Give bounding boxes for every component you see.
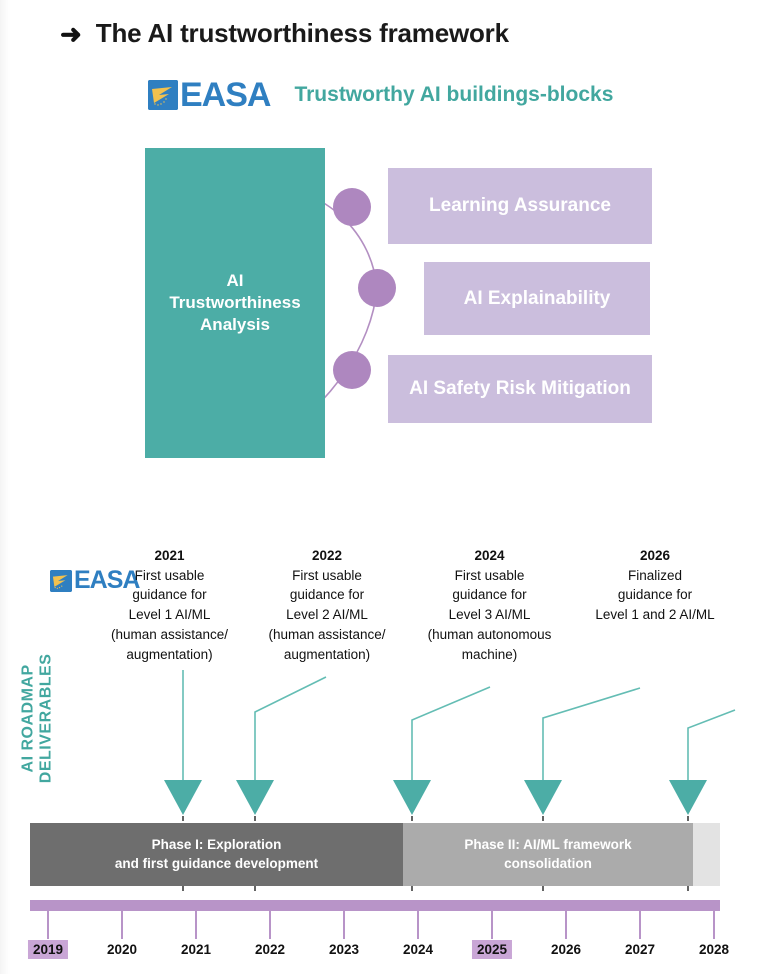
phase-band: Phase I: Exploration and first guidance … [30,823,720,886]
easa-logo-icon [148,80,178,110]
easa-logo-top: EASA [148,78,270,112]
year-label-2025: 2025 [472,940,512,959]
page-title-row: ➜ The AI trustworthiness framework [60,18,509,49]
connector-node-1 [333,188,371,226]
year-tick [269,911,271,939]
easa-wordmark: EASA [180,78,270,112]
year-tick [343,911,345,939]
core-concept-box: AI Trustworthiness Analysis [145,148,325,458]
year-label-2024: 2024 [398,940,438,959]
phase-2-bar: Phase II: AI/ML framework consolidation [403,823,693,886]
year-label-2028: 2028 [694,940,734,959]
year-label-2020: 2020 [102,940,142,959]
pillar-learning-assurance: Learning Assurance [388,168,652,244]
phase-3-bar [693,823,720,886]
year-label-2019: 2019 [28,940,68,959]
year-label-2026: 2026 [546,940,586,959]
year-label-2023: 2023 [324,940,364,959]
phase-1-bar: Phase I: Exploration and first guidance … [30,823,403,886]
phase-label: Phase I: Exploration and first guidance … [115,836,318,872]
year-tick [47,911,49,939]
phase-label: Phase II: AI/ML framework consolidation [464,836,631,872]
page-title: The AI trustworthiness framework [96,18,509,49]
year-tick [417,911,419,939]
year-tick [195,911,197,939]
subtitle: Trustworthy AI buildings-blocks [294,83,613,107]
year-label-2022: 2022 [250,940,290,959]
pillar-label: AI Safety Risk Mitigation [409,378,631,400]
ai-roadmap-timeline: AI ROADMAP DELIVERABLES 2021 First usabl… [0,540,764,974]
year-label-2021: 2021 [176,940,216,959]
year-tick [491,911,493,939]
pillar-ai-safety-risk-mitigation: AI Safety Risk Mitigation [388,355,652,423]
year-tick [121,911,123,939]
core-concept-label: AI Trustworthiness Analysis [169,270,300,336]
connector-node-2 [358,269,396,307]
subtitle-row: EASA Trustworthy AI buildings-blocks [148,78,613,112]
year-tick [713,911,715,939]
pillar-ai-explainability: AI Explainability [424,262,650,335]
pillar-label: Learning Assurance [429,195,611,217]
slide-root: ➜ The AI trustworthiness framework EASA … [0,0,764,974]
pillar-label: AI Explainability [464,288,611,310]
connector-node-3 [333,351,371,389]
trustworthiness-diagram: AI Trustworthiness Analysis Learning Ass… [0,140,764,470]
year-tick [565,911,567,939]
year-label-2027: 2027 [620,940,660,959]
year-tick [639,911,641,939]
year-axis-bar [30,900,720,911]
right-arrow-icon: ➜ [60,21,82,47]
